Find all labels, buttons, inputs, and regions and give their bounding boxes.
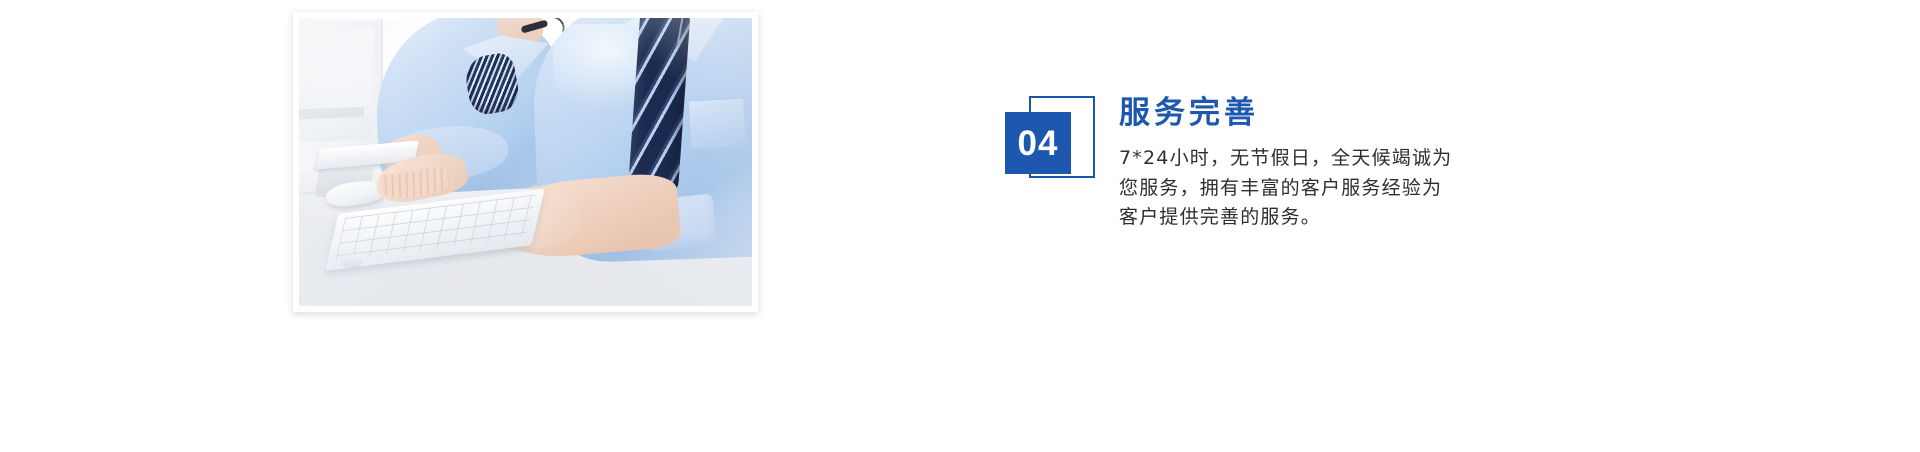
feature-number-badge: 04 xyxy=(1005,96,1097,182)
agents-photo xyxy=(299,18,752,306)
badge-number-label: 04 xyxy=(1018,126,1059,161)
shirt-pocket xyxy=(687,97,746,148)
feature-description: 7*24小时，无节假日，全天候竭诚为 您服务，拥有丰富的客户服务经验为 客户提供… xyxy=(1119,144,1452,232)
description-line: 7*24小时，无节假日，全天候竭诚为 xyxy=(1119,144,1452,173)
feature-text-column: 服务完善 7*24小时，无节假日，全天候竭诚为 您服务，拥有丰富的客户服务经验为… xyxy=(1119,96,1452,232)
feature-title: 服务完善 xyxy=(1119,96,1452,130)
description-line: 您服务，拥有丰富的客户服务经验为 xyxy=(1119,174,1452,203)
agents-photo-frame xyxy=(293,12,758,312)
feature-content: 04 服务完善 7*24小时，无节假日，全天候竭诚为 您服务，拥有丰富的客户服务… xyxy=(1005,96,1452,232)
feature-banner: 04 服务完善 7*24小时，无节假日，全天候竭诚为 您服务，拥有丰富的客户服务… xyxy=(0,0,1920,452)
description-line: 客户提供完善的服务。 xyxy=(1119,203,1452,232)
badge-filled-square: 04 xyxy=(1005,112,1071,174)
monitor-screen xyxy=(299,29,373,143)
